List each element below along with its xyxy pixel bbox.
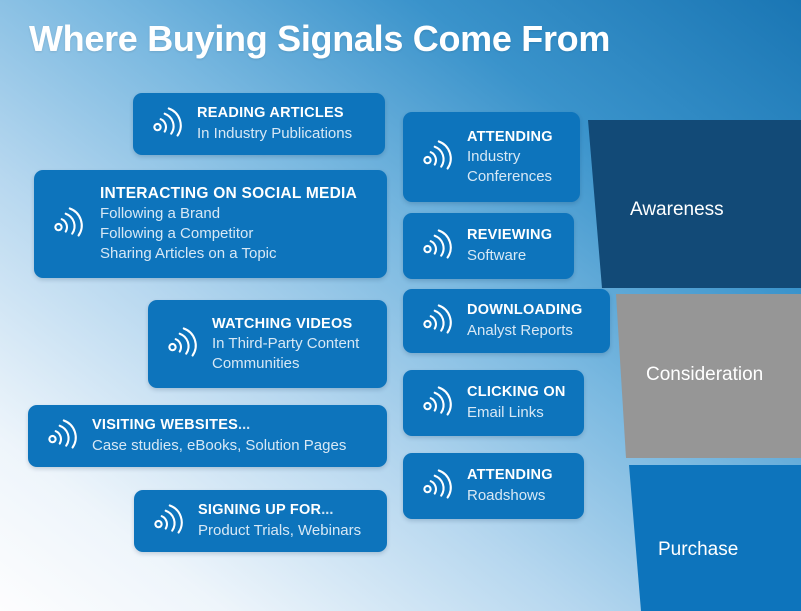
signal-card-attending-roadshows[interactable]: ATTENDING Roadshows — [403, 453, 584, 519]
signal-wave-icon — [39, 413, 85, 459]
signal-card-clicking-email-links[interactable]: CLICKING ON Email Links — [403, 370, 584, 436]
signal-card-subline: In Industry Publications — [197, 124, 373, 144]
signal-card-interacting-social-media[interactable]: INTERACTING ON SOCIAL MEDIA Following a … — [34, 170, 387, 278]
signal-card-text: CLICKING ON Email Links — [467, 383, 584, 422]
signal-card-attending-conferences[interactable]: ATTENDING Industry Conferences — [403, 112, 580, 202]
signal-card-watching-videos[interactable]: WATCHING VIDEOS In Third-Party Content C… — [148, 300, 387, 388]
stage-band-purchase: Purchase — [620, 465, 801, 611]
signal-card-text: INTERACTING ON SOCIAL MEDIA Following a … — [98, 184, 387, 264]
signal-wave-icon — [145, 498, 191, 544]
signal-card-text: WATCHING VIDEOS In Third-Party Content C… — [212, 315, 387, 374]
stage-band-awareness: Awareness — [585, 120, 801, 288]
signal-card-text: ATTENDING Roadshows — [467, 466, 584, 505]
signal-card-visiting-websites[interactable]: VISITING WEBSITES... Case studies, eBook… — [28, 405, 387, 467]
signal-card-subline: Following a Brand — [100, 204, 375, 224]
signal-wave-icon — [414, 223, 460, 269]
signal-card-heading: DOWNLOADING — [467, 302, 583, 318]
signal-wave-icon — [414, 380, 460, 426]
signal-card-signing-up-for[interactable]: SIGNING UP FOR... Product Trials, Webina… — [134, 490, 387, 552]
signal-wave-icon — [144, 101, 190, 147]
signal-card-heading: WATCHING VIDEOS — [212, 316, 352, 332]
signal-card-heading: ATTENDING — [467, 129, 553, 145]
signal-card-heading: REVIEWING — [467, 227, 552, 243]
signal-card-subline: Email Links — [467, 403, 572, 423]
signal-wave-icon — [159, 321, 205, 367]
signal-wave-icon — [45, 201, 91, 247]
signal-card-subline: Communities — [212, 354, 375, 374]
signal-card-subline: Following a Competitor — [100, 224, 375, 244]
signal-card-subline: Roadshows — [467, 486, 572, 506]
signal-card-subline: Software — [467, 246, 562, 266]
signal-card-heading: CLICKING ON — [467, 384, 566, 400]
stage-label-consideration: Consideration — [646, 364, 763, 386]
signal-card-subline: Case studies, eBooks, Solution Pages — [92, 436, 375, 456]
signal-card-subline: Conferences — [467, 167, 568, 187]
signal-wave-icon — [414, 463, 460, 509]
signal-card-subline: In Third-Party Content — [212, 334, 375, 354]
stage-band-purchase-shape — [620, 465, 801, 611]
signal-card-text: SIGNING UP FOR... Product Trials, Webina… — [198, 501, 387, 540]
signal-card-text: ATTENDING Industry Conferences — [467, 128, 580, 187]
signal-wave-icon — [414, 298, 460, 344]
signal-card-reviewing-software[interactable]: REVIEWING Software — [403, 213, 574, 279]
signal-card-subline: Industry — [467, 147, 568, 167]
signal-card-subline: Analyst Reports — [467, 321, 598, 341]
signal-wave-icon — [414, 134, 460, 180]
signal-card-heading: SIGNING UP FOR... — [198, 502, 333, 518]
signal-card-heading: INTERACTING ON SOCIAL MEDIA — [100, 185, 357, 202]
signal-card-text: DOWNLOADING Analyst Reports — [467, 301, 610, 340]
infographic-canvas: Where Buying Signals Come From Awareness… — [0, 0, 801, 611]
signal-card-text: REVIEWING Software — [467, 226, 574, 265]
stage-label-purchase: Purchase — [658, 539, 738, 561]
signal-card-subline: Sharing Articles on a Topic — [100, 244, 375, 264]
signal-card-text: READING ARTICLES In Industry Publication… — [197, 104, 385, 143]
signal-card-downloading-reports[interactable]: DOWNLOADING Analyst Reports — [403, 289, 610, 353]
signal-card-subline: Product Trials, Webinars — [198, 521, 375, 541]
page-title: Where Buying Signals Come From — [29, 18, 610, 60]
signal-card-heading: READING ARTICLES — [197, 105, 344, 121]
signal-card-heading: VISITING WEBSITES... — [92, 417, 250, 433]
signal-card-reading-articles[interactable]: READING ARTICLES In Industry Publication… — [133, 93, 385, 155]
signal-card-heading: ATTENDING — [467, 467, 553, 483]
stage-band-consideration: Consideration — [597, 294, 801, 458]
stage-label-awareness: Awareness — [630, 199, 724, 221]
signal-card-text: VISITING WEBSITES... Case studies, eBook… — [92, 416, 387, 455]
